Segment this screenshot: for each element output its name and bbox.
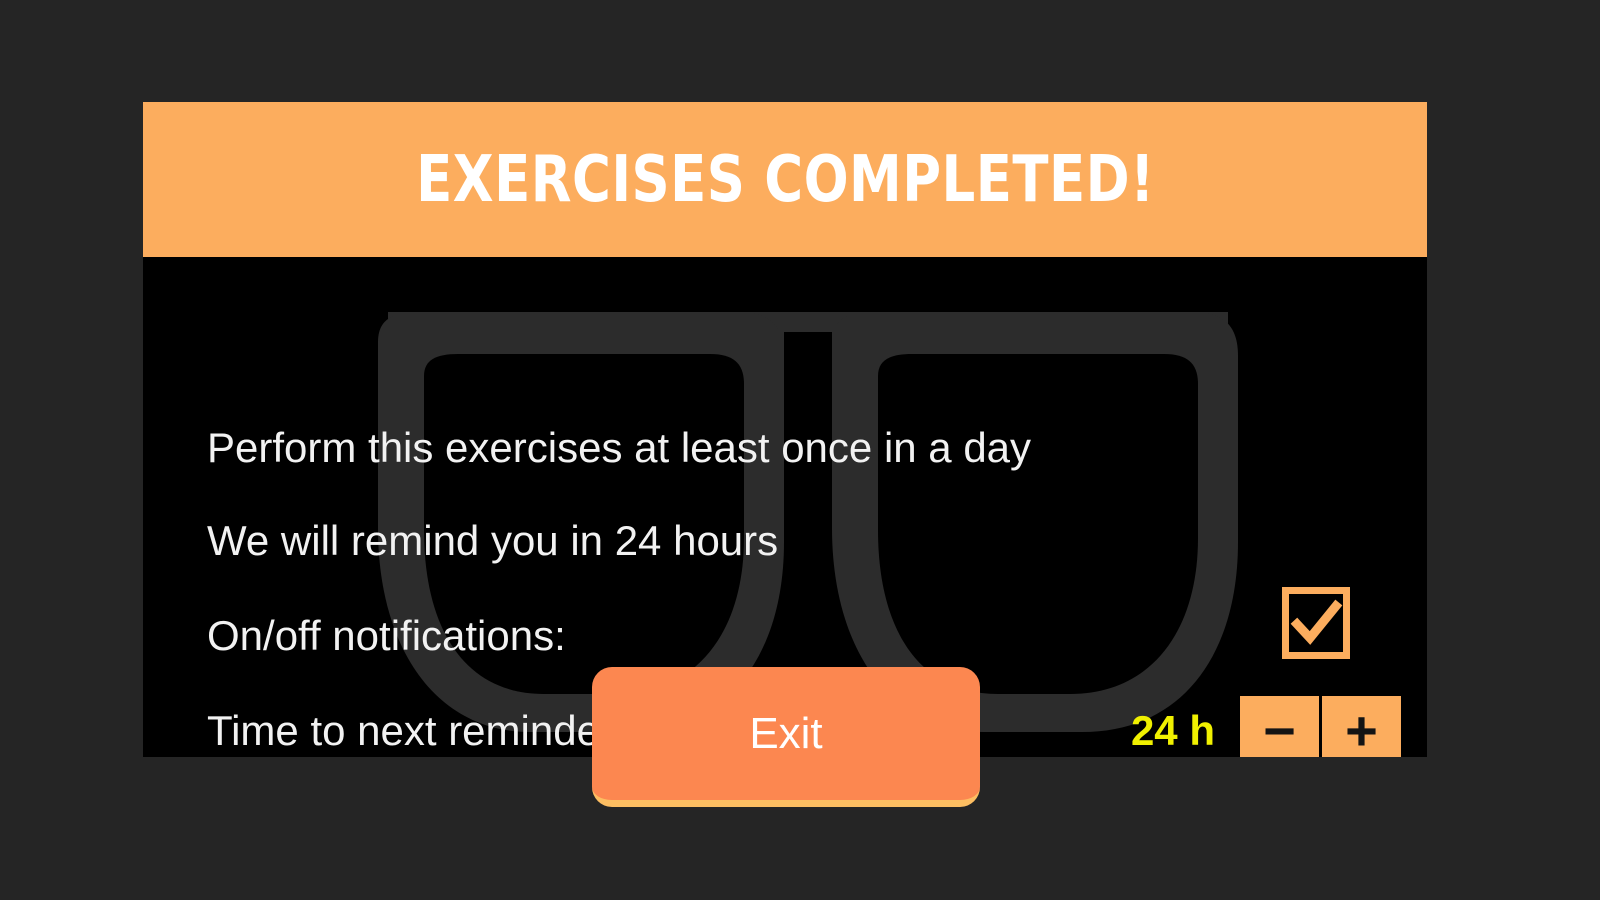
increment-time-button[interactable]: +	[1322, 696, 1401, 757]
notifications-label: On/off notifications:	[207, 615, 566, 657]
exit-button[interactable]: Exit	[592, 667, 980, 807]
reminder-time-value: 24 h	[1131, 705, 1215, 757]
row-perform-instruction: Perform this exercises at least once in …	[207, 422, 1377, 474]
exercises-completed-dialog: EXERCISES COMPLETED! Perform this exerci…	[143, 102, 1427, 757]
time-stepper: − +	[1240, 696, 1401, 757]
page-title: EXERCISES COMPLETED!	[416, 148, 1155, 212]
time-to-next-reminder-label: Time to next reminder:	[207, 710, 626, 752]
perform-instruction-label: Perform this exercises at least once in …	[207, 427, 1031, 469]
plus-icon: +	[1345, 703, 1378, 758]
checkmark-icon	[1289, 594, 1343, 652]
notifications-checkbox[interactable]	[1282, 587, 1350, 659]
dialog-header: EXERCISES COMPLETED!	[143, 102, 1427, 257]
remind-info-label: We will remind you in 24 hours	[207, 520, 778, 562]
decrement-time-button[interactable]: −	[1240, 696, 1319, 757]
exit-button-label: Exit	[749, 712, 822, 756]
row-notifications-toggle: On/off notifications:	[207, 610, 1377, 662]
minus-icon: −	[1263, 703, 1296, 758]
row-remind-info: We will remind you in 24 hours	[207, 515, 1377, 567]
